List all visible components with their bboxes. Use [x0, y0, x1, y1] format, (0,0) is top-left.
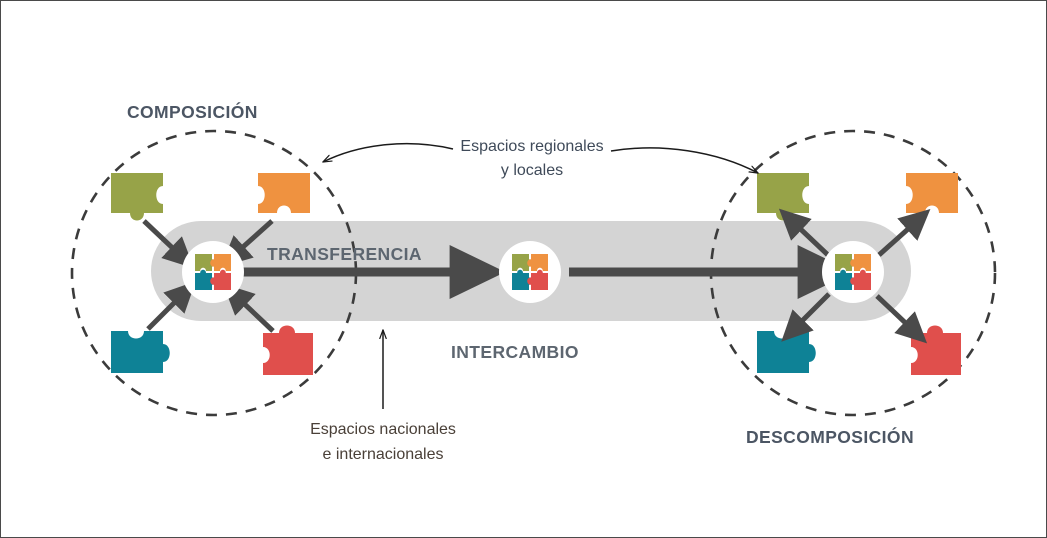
composition-label: COMPOSICIÓN	[127, 101, 258, 122]
node-circle	[182, 241, 244, 303]
composition-piece-teal	[111, 331, 170, 373]
decomposition-piece-teal	[757, 331, 816, 373]
node-circle	[822, 241, 884, 303]
composition-piece-red	[263, 326, 313, 376]
concept-diagram: COMPOSICIÓN DESCOMPOSICIÓN TRANSFERENCIA…	[1, 1, 1047, 538]
diagram-canvas: COMPOSICIÓN DESCOMPOSICIÓN TRANSFERENCIA…	[0, 0, 1047, 538]
assembled-node-left	[182, 241, 244, 303]
regional-annotation-line2: y locales	[501, 162, 563, 179]
annotation-arrow-to-composition	[323, 144, 453, 162]
assembled-node-right	[822, 241, 884, 303]
decomposition-piece-orange	[906, 173, 958, 213]
composition-piece-orange	[258, 173, 310, 213]
exchange-label: INTERCAMBIO	[451, 342, 579, 362]
regional-annotation-line1: Espacios regionales	[460, 138, 603, 155]
decomposition-label: DESCOMPOSICIÓN	[746, 426, 914, 447]
annotation-arrow-to-decomposition	[611, 148, 758, 173]
decomposition-piece-olive	[757, 173, 809, 221]
assembled-node-center	[499, 241, 561, 303]
composition-piece-olive	[111, 173, 163, 221]
national-annotation-line1: Espacios nacionales	[310, 421, 456, 438]
national-annotation-line2: e internacionales	[323, 446, 444, 463]
node-circle	[499, 241, 561, 303]
transfer-label: TRANSFERENCIA	[267, 244, 422, 264]
decomposition-piece-red	[911, 326, 961, 376]
